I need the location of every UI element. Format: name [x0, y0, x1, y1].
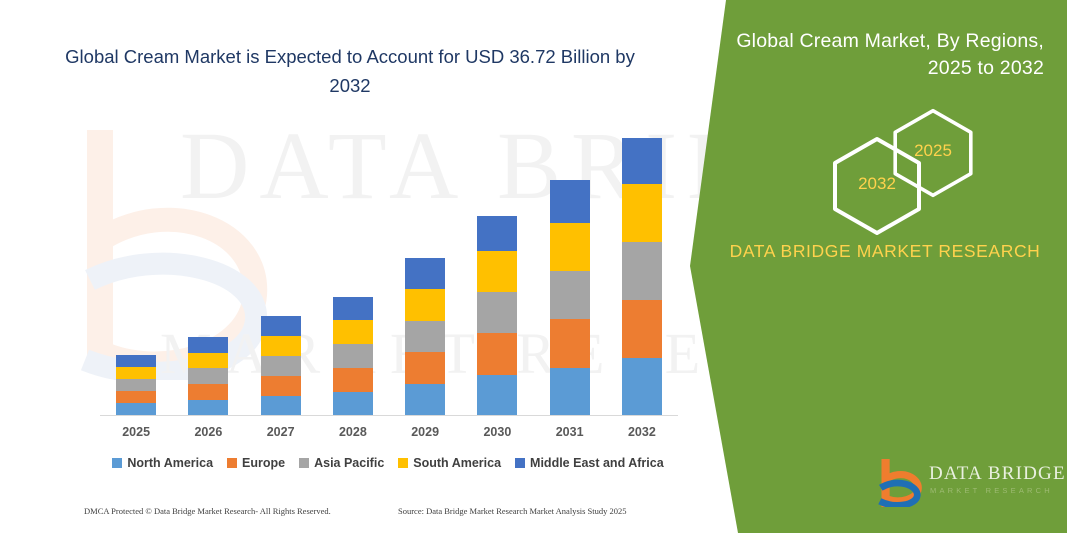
bar-segment	[405, 258, 445, 289]
bar-segment	[622, 184, 662, 242]
bar-segment	[333, 392, 373, 415]
side-panel-title: Global Cream Market, By Regions, 2025 to…	[726, 28, 1044, 82]
bar-column	[550, 180, 590, 415]
bar-column	[333, 297, 373, 415]
bar-segment	[261, 336, 301, 356]
bar-segment	[477, 375, 517, 415]
chart-legend: North AmericaEuropeAsia PacificSouth Ame…	[96, 456, 680, 470]
bar-column	[405, 258, 445, 415]
brand-logo: DATA BRIDGE MARKET RESEARCH	[875, 455, 1055, 511]
bar-segment	[333, 297, 373, 320]
hexagon-2032-label: 2032	[827, 174, 927, 194]
bar-column	[261, 316, 301, 415]
footer: DMCA Protected © Data Bridge Market Rese…	[0, 506, 700, 526]
legend-item[interactable]: South America	[398, 456, 501, 470]
legend-swatch-icon	[112, 458, 122, 468]
data-bridge-logo-icon	[875, 459, 923, 507]
bar-column	[622, 138, 662, 415]
hexagon-group: 2025 2032	[690, 100, 1067, 220]
x-axis-tick-label: 2031	[550, 425, 590, 439]
bar-segment	[116, 391, 156, 403]
brand-name: DATA BRIDGE MARKET RESEARCH	[726, 238, 1044, 264]
footer-copyright: DMCA Protected © Data Bridge Market Rese…	[84, 506, 331, 516]
legend-swatch-icon	[515, 458, 525, 468]
bar-segment	[261, 356, 301, 376]
legend-label: North America	[127, 456, 213, 470]
bar-column	[477, 216, 517, 415]
bar-segment	[188, 353, 228, 368]
infographic-canvas: DATA BRIDGE MARKET RESEARCH Global Cream…	[0, 0, 1067, 533]
legend-label: Europe	[242, 456, 285, 470]
bar-segment	[261, 376, 301, 396]
x-axis-tick-label: 2027	[261, 425, 301, 439]
legend-swatch-icon	[398, 458, 408, 468]
bar-segment	[261, 316, 301, 336]
bar-segment	[405, 289, 445, 321]
bar-column	[116, 355, 156, 415]
bar-segment	[622, 242, 662, 300]
logo-wordmark: DATA BRIDGE	[929, 463, 1066, 485]
bar-segment	[188, 384, 228, 400]
bar-segment	[116, 403, 156, 415]
bar-column	[188, 337, 228, 415]
x-axis-tick-label: 2030	[477, 425, 517, 439]
bar-segment	[333, 344, 373, 368]
hexagon-2032: 2032	[827, 136, 927, 236]
x-axis-tick-label: 2026	[188, 425, 228, 439]
legend-label: South America	[413, 456, 501, 470]
bar-segment	[550, 319, 590, 368]
bar-segment	[477, 292, 517, 333]
bar-segment	[405, 384, 445, 415]
legend-label: Asia Pacific	[314, 456, 384, 470]
bar-segment	[550, 368, 590, 415]
footer-source: Source: Data Bridge Market Research Mark…	[398, 506, 627, 516]
bar-segment	[116, 355, 156, 367]
bar-segment	[622, 300, 662, 358]
logo-subtitle: MARKET RESEARCH	[930, 486, 1053, 495]
bar-segment	[261, 396, 301, 415]
bar-segment	[622, 138, 662, 184]
legend-item[interactable]: North America	[112, 456, 213, 470]
side-panel: Global Cream Market, By Regions, 2025 to…	[690, 0, 1067, 533]
bar-segment	[116, 367, 156, 379]
bar-segment	[333, 368, 373, 392]
x-axis-tick-label: 2028	[333, 425, 373, 439]
legend-swatch-icon	[299, 458, 309, 468]
bar-segment	[188, 337, 228, 353]
x-axis-tick-label: 2025	[116, 425, 156, 439]
bar-segment	[116, 379, 156, 391]
bar-segment	[477, 333, 517, 375]
chart-region: Global Cream Market is Expected to Accou…	[0, 0, 700, 533]
bar-segment	[550, 180, 590, 223]
x-axis-tick-label: 2032	[622, 425, 662, 439]
bar-segment	[333, 320, 373, 344]
bar-segment	[188, 400, 228, 415]
bar-segment	[477, 216, 517, 251]
bar-segment	[188, 368, 228, 384]
bar-segment	[622, 358, 662, 415]
bar-segment	[550, 271, 590, 319]
x-axis-line	[100, 415, 678, 416]
bar-segment	[405, 321, 445, 352]
legend-item[interactable]: Europe	[227, 456, 285, 470]
legend-label: Middle East and Africa	[530, 456, 664, 470]
legend-item[interactable]: Middle East and Africa	[515, 456, 664, 470]
legend-item[interactable]: Asia Pacific	[299, 456, 384, 470]
bar-segment	[405, 352, 445, 384]
page-title: Global Cream Market is Expected to Accou…	[60, 42, 640, 100]
bar-segment	[477, 251, 517, 292]
legend-swatch-icon	[227, 458, 237, 468]
bar-segment	[550, 223, 590, 271]
bar-series-group	[100, 118, 678, 415]
x-axis-labels: 20252026202720282029203020312032	[100, 425, 678, 439]
x-axis-tick-label: 2029	[405, 425, 445, 439]
